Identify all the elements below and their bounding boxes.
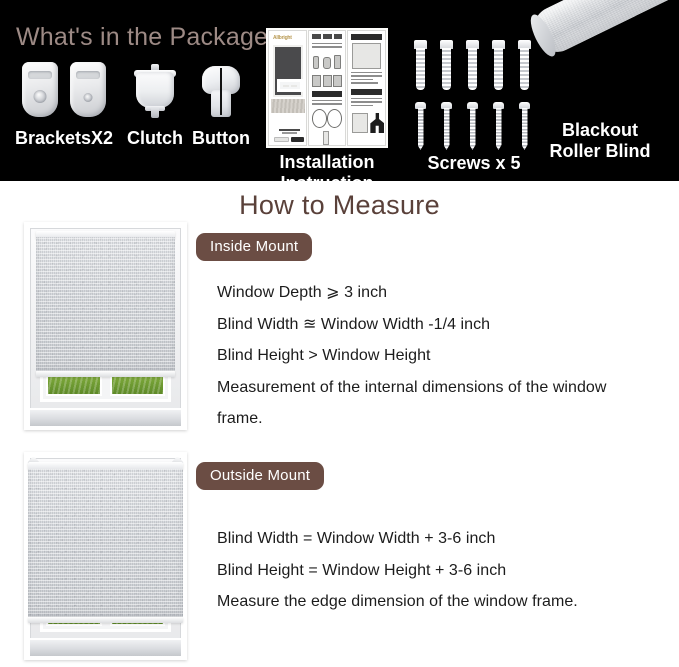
booklet-panel-cover: Allbright xyxy=(268,30,307,146)
booklet-circle xyxy=(327,109,342,128)
booklet-footer-line xyxy=(279,129,300,131)
booklet-circle xyxy=(312,109,327,128)
wall-anchor-icon xyxy=(518,40,531,90)
window-sill xyxy=(28,638,183,658)
booklet-text-lines xyxy=(312,43,343,50)
booklet-part-icon xyxy=(312,75,321,87)
package-label-roller-blind-line1: Blackout xyxy=(562,120,638,140)
booklet-text-lines xyxy=(351,72,382,86)
package-item-brackets: BracketsX2 xyxy=(14,62,114,120)
outside-mount-line: Measure the edge dimension of the window… xyxy=(217,586,666,618)
booklet-step-header xyxy=(351,34,382,40)
package-item-clutch: Clutch xyxy=(134,62,176,120)
booklet-footer-line xyxy=(282,132,297,134)
booklet-diagram-tool xyxy=(323,131,329,145)
booklet-text-lines xyxy=(351,98,382,108)
booklet-brand: Allbright xyxy=(273,35,292,41)
screw-icon xyxy=(415,102,426,150)
booklet-panel-parts xyxy=(308,30,347,146)
booklet-cover-footer xyxy=(274,129,304,136)
package-section: What's in the Package BracketsX2 Clutch … xyxy=(0,0,679,181)
blind-fabric xyxy=(36,237,175,371)
package-label-instruction-line2: Instruction xyxy=(280,173,373,181)
inside-mount-block: Inside Mount Window Depth ⩾ 3 inch Blind… xyxy=(196,233,666,435)
window-sill xyxy=(28,408,183,428)
bracket-slot xyxy=(28,71,52,79)
package-item-instruction: Allbright xyxy=(266,28,388,148)
package-label-instruction: Installation Instruction xyxy=(279,152,374,181)
blind-fabric xyxy=(28,469,183,617)
booklet-step-image xyxy=(352,43,381,69)
booklet-parts-icons-2 xyxy=(312,73,343,87)
package-item-roller-blind: Blackout Roller Blind xyxy=(540,6,679,126)
outside-mount-illustration xyxy=(24,452,187,660)
blind-bottom-bar xyxy=(36,371,175,377)
booklet-step-image xyxy=(352,113,368,133)
package-label-roller-blind: Blackout Roller Blind xyxy=(549,120,650,162)
bracket-hole xyxy=(34,90,47,103)
wrench-icon xyxy=(370,113,384,133)
booklet-step-header xyxy=(312,91,343,97)
booklet-panel-heading xyxy=(312,34,343,39)
package-label-roller-blind-line2: Roller Blind xyxy=(549,141,650,161)
booklet-text-lines xyxy=(312,100,343,107)
inside-mount-illustration xyxy=(24,222,187,430)
booklet-step-header xyxy=(351,89,382,95)
screw-icon xyxy=(441,102,452,150)
booklet-part-icon xyxy=(334,55,341,69)
clutch-pin-bottom xyxy=(151,107,159,118)
booklet-panel-steps xyxy=(347,30,386,146)
inside-mount-line: Measurement of the internal dimensions o… xyxy=(217,372,641,435)
package-title: What's in the Package xyxy=(16,23,268,52)
booklet-footer-badges xyxy=(274,137,304,142)
booklet-part-icon xyxy=(323,75,332,87)
outside-mount-line: Blind Width = Window Width + 3-6 inch xyxy=(217,523,666,555)
inside-mount-lines: Window Depth ⩾ 3 inch Blind Width ≊ Wind… xyxy=(196,277,666,435)
measure-section: How to Measure In xyxy=(0,181,679,667)
screw-icon xyxy=(467,102,478,150)
booklet-part-icon xyxy=(333,75,342,87)
clutch-icon xyxy=(136,72,174,108)
bracket-icon xyxy=(70,62,106,117)
bracket-slot xyxy=(76,71,100,79)
booklet-photo-pane xyxy=(291,85,297,87)
outside-mount-block: Outside Mount Blind Width = Window Width… xyxy=(196,462,666,618)
package-label-button: Button xyxy=(192,128,250,149)
booklet-diagram-circles xyxy=(312,109,343,128)
booklet-cover-floor xyxy=(271,99,305,113)
outside-mount-badge: Outside Mount xyxy=(196,462,324,490)
package-item-screws: Screws x 5 xyxy=(414,40,534,150)
inside-mount-line: Blind Width ≊ Window Width -1/4 inch xyxy=(217,309,666,341)
screw-icon xyxy=(519,102,530,150)
measure-title: How to Measure xyxy=(0,190,679,221)
package-item-button: Button xyxy=(200,62,242,120)
package-label-clutch: Clutch xyxy=(127,128,183,149)
inside-mount-badge: Inside Mount xyxy=(196,233,312,261)
booklet-photo-panes xyxy=(277,79,303,92)
booklet-cover-photo xyxy=(273,45,303,97)
booklet-badge xyxy=(291,137,304,142)
inside-mount-line: Window Depth ⩾ 3 inch xyxy=(217,277,666,309)
bracket-icon xyxy=(22,62,58,117)
button-slit xyxy=(220,68,222,115)
booklet-parts-icons xyxy=(312,53,343,69)
package-label-screws: Screws x 5 xyxy=(427,153,520,174)
package-label-instruction-line1: Installation xyxy=(279,152,374,172)
booklet-badge xyxy=(274,137,289,142)
booklet-photo-pane xyxy=(283,85,289,87)
wall-anchor-icon xyxy=(466,40,479,90)
package-label-brackets: BracketsX2 xyxy=(15,128,113,149)
booklet-part-icon xyxy=(313,56,319,69)
blind-bottom-bar xyxy=(28,617,183,623)
inside-mount-line: Blind Height > Window Height xyxy=(217,340,666,372)
instruction-booklet-icon: Allbright xyxy=(266,28,388,148)
screw-icon xyxy=(493,102,504,150)
outside-mount-line: Blind Height = Window Height + 3-6 inch xyxy=(217,555,666,587)
bracket-hole xyxy=(84,93,93,102)
outside-mount-lines: Blind Width = Window Width + 3-6 inch Bl… xyxy=(196,523,666,618)
wall-anchor-icon xyxy=(440,40,453,90)
wall-anchor-icon xyxy=(414,40,427,90)
wall-anchor-icon xyxy=(492,40,505,90)
booklet-part-icon xyxy=(323,57,331,69)
